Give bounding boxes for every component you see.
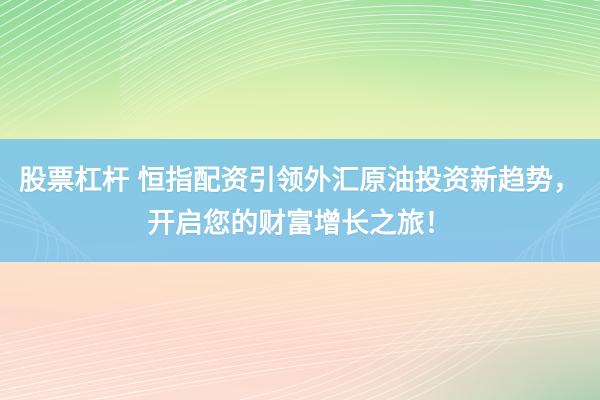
headline-text: 股票杠杆 恒指配资引领外汇原油投资新趋势，开启您的财富增长之旅！ xyxy=(16,158,584,244)
headline-band: 股票杠杆 恒指配资引领外汇原油投资新趋势，开启您的财富增长之旅！ xyxy=(0,139,600,262)
promo-banner: 股票杠杆 恒指配资引领外汇原油投资新趋势，开启您的财富增长之旅！ xyxy=(0,0,600,400)
